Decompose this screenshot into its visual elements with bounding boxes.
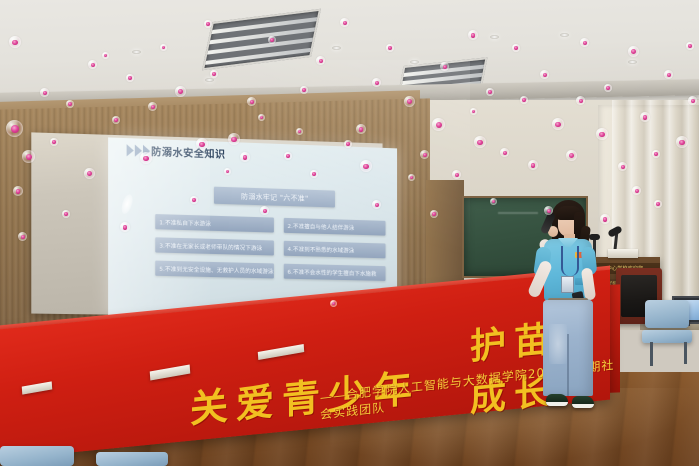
slide-rule-text: 4.不准到不熟悉的水域游泳 <box>287 244 354 254</box>
bubble <box>175 86 186 97</box>
bubble <box>330 300 337 307</box>
bubble <box>604 84 612 92</box>
bubble <box>430 210 438 218</box>
bubble <box>654 200 662 208</box>
bubble <box>528 160 538 170</box>
bubble <box>300 86 308 94</box>
bubble <box>160 44 167 51</box>
bubble <box>600 214 610 224</box>
bubble <box>618 162 627 171</box>
bubble <box>18 232 27 241</box>
bubble <box>204 20 212 28</box>
slide-rules-grid: 1.不准私自下水游泳 2.不准擅自与他人结伴游泳 3.不准在无家长或老师带队的情… <box>155 214 385 281</box>
downlight-icon <box>628 60 637 64</box>
slide-rule-text: 1.不准私自下水游泳 <box>159 218 211 228</box>
slide-subject-box: 防溺水牢记 "六不准" <box>214 187 335 208</box>
slide-subject-text: 防溺水牢记 "六不准" <box>241 191 308 203</box>
bubble <box>148 102 157 111</box>
bubble <box>284 152 292 160</box>
slide-rule-item: 3.不准在无家长或老师带队的情况下游泳 <box>155 237 273 255</box>
bubble <box>470 108 477 115</box>
slide-rule-item: 5.不准到无安全设施、无救护人员的水域游泳 <box>155 261 273 279</box>
downlight-icon <box>332 46 341 50</box>
slide-rule-text: 3.不准在无家长或老师带队的情况下游泳 <box>159 241 262 252</box>
downlight-icon <box>560 33 569 37</box>
bubble <box>468 30 478 40</box>
slide-rule-item: 1.不准私自下水游泳 <box>155 214 273 232</box>
bubble <box>40 88 49 97</box>
bubble <box>210 70 218 78</box>
bubble <box>640 112 650 122</box>
bubble <box>688 96 697 105</box>
downlight-icon <box>490 35 499 39</box>
bubble <box>260 206 269 215</box>
downlight-icon <box>132 50 141 54</box>
bubble <box>196 138 208 150</box>
bubble <box>66 100 74 108</box>
lanyard <box>561 246 579 276</box>
denim-fade <box>549 324 567 364</box>
bubble <box>628 46 639 57</box>
bubble <box>88 60 97 69</box>
bubble <box>360 160 372 172</box>
slide-rule-item: 4.不准到不熟悉的水域游泳 <box>284 241 386 259</box>
slide-rule-text: 6.不准不会水性的学生擅自下水施救 <box>287 267 376 277</box>
bubble <box>420 150 429 159</box>
blue-plastic-chair-front[interactable] <box>96 452 168 466</box>
bubble <box>452 170 461 179</box>
bubble <box>247 97 256 106</box>
bubble <box>372 200 381 209</box>
bubble <box>432 118 445 131</box>
bubble <box>552 118 564 130</box>
bubble <box>576 96 585 105</box>
bubble <box>6 120 23 137</box>
chair-leg <box>684 342 687 364</box>
bubble <box>652 150 660 158</box>
bubble <box>50 138 58 146</box>
bubble <box>140 152 152 164</box>
bubble <box>544 206 553 215</box>
bubble <box>190 196 198 204</box>
bubble <box>344 140 352 148</box>
bubble <box>112 116 120 124</box>
bubble <box>580 38 589 47</box>
bubble <box>126 74 134 82</box>
bubble <box>296 128 303 135</box>
bubble <box>310 170 318 178</box>
presenter <box>528 200 610 412</box>
bubble <box>512 44 520 52</box>
bubble <box>486 88 494 96</box>
bubble <box>22 150 35 163</box>
bubble <box>440 62 449 71</box>
bubble <box>62 210 70 218</box>
downlight-icon <box>410 60 419 64</box>
slide-title: 防溺水安全知识 <box>151 143 225 161</box>
bubble <box>340 18 349 27</box>
slide-rule-item: 6.不准不会水性的学生擅自下水施救 <box>284 264 386 281</box>
blue-plastic-chair-front[interactable] <box>0 446 74 466</box>
bubble <box>268 36 276 44</box>
bubble <box>686 42 694 50</box>
bubble <box>474 136 486 148</box>
bubble <box>13 186 23 196</box>
jeans <box>543 300 593 396</box>
blue-plastic-chair-back[interactable] <box>645 300 689 328</box>
bubble <box>490 198 497 205</box>
slide-rule-text: 2.不准擅自与他人结伴游泳 <box>287 221 354 231</box>
bubble <box>404 96 415 107</box>
papers-on-podium <box>608 249 638 258</box>
bubble <box>386 44 394 52</box>
bubble <box>632 186 641 195</box>
bubble <box>664 70 673 79</box>
bubble <box>566 150 577 161</box>
id-badge <box>561 276 574 293</box>
classroom-photo-scene: 防溺水安全知识 防溺水牢记 "六不准" 1.不准私自下水游泳 2.不准擅自与他人… <box>0 0 699 466</box>
bubble <box>540 70 549 79</box>
projector-hotspot <box>120 193 135 215</box>
bubble <box>356 124 366 134</box>
bubble <box>258 114 265 121</box>
chair-leg <box>650 342 653 366</box>
bubble <box>240 152 250 162</box>
bubble <box>9 36 21 48</box>
bubble <box>520 96 528 104</box>
bubble <box>224 168 231 175</box>
bubble <box>316 56 325 65</box>
slide-rule-item: 2.不准擅自与他人结伴游泳 <box>284 218 386 236</box>
bubble <box>102 52 109 59</box>
bubble <box>372 78 381 87</box>
bubble <box>500 148 509 157</box>
bubble <box>84 168 95 179</box>
bubble <box>228 133 240 145</box>
slide-rule-text: 5.不准到无安全设施、无救护人员的水域游泳 <box>159 264 273 275</box>
chevron-right-icon <box>127 144 134 156</box>
downlight-icon <box>205 78 214 82</box>
bubble <box>596 128 608 140</box>
sneaker <box>572 396 594 408</box>
bubble <box>676 136 688 148</box>
bubble <box>408 174 415 181</box>
sneaker <box>546 394 568 406</box>
bubble <box>120 222 130 232</box>
